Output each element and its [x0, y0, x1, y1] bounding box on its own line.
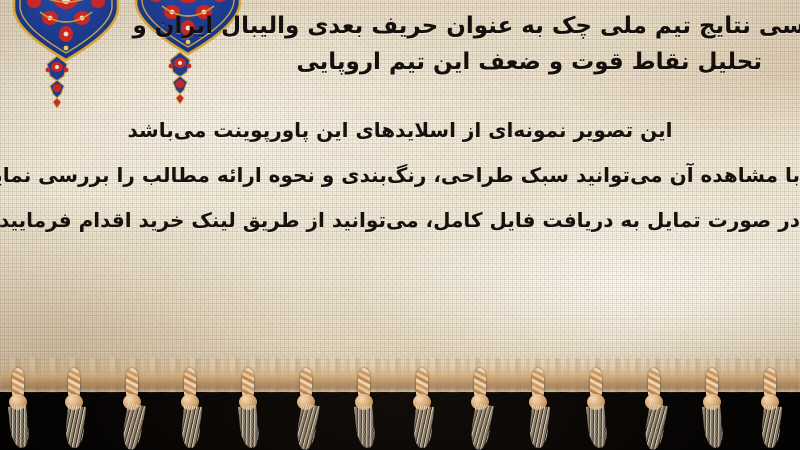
tassel-tail: [412, 405, 434, 449]
fringe-tassel: [118, 366, 146, 450]
fringe-tassel: [756, 366, 784, 450]
fringe-tassel: [234, 366, 262, 450]
title-line-2: تحلیل نقاط قوت و ضعف این تیم اروپایی: [0, 44, 762, 80]
tassel-tail: [586, 405, 608, 448]
title-line-1: رسی نتایج تیم ملی چک به عنوان حریف بعدی …: [0, 8, 800, 44]
fringe-tassel: [524, 366, 552, 450]
tassel-tail: [8, 405, 30, 448]
slide-body: این تصویر نمونه‌ای از اسلایدهای این پاور…: [0, 108, 800, 243]
fringe-tassel: [698, 366, 726, 450]
body-line-1: این تصویر نمونه‌ای از اسلایدهای این پاور…: [0, 108, 800, 153]
tassel-tail: [294, 403, 320, 450]
tassel-tail: [180, 405, 202, 449]
tassel-tail: [238, 405, 260, 448]
slide-canvas: رسی نتایج تیم ملی چک به عنوان حریف بعدی …: [0, 0, 800, 450]
fringe-tassel: [466, 366, 494, 450]
fringe-tassel: [292, 366, 320, 450]
fringe-tassel: [4, 366, 32, 450]
carpet-fringe: [0, 366, 800, 450]
fringe-tassel: [640, 366, 668, 450]
fringe-tassel: [60, 366, 88, 450]
body-line-3: در صورت تمایل به دریافت فایل کامل، می‌تو…: [0, 198, 800, 243]
fringe-tassel: [408, 366, 436, 450]
fringe-tassel: [350, 366, 378, 450]
tassel-tail: [64, 405, 86, 449]
slide-title: رسی نتایج تیم ملی چک به عنوان حریف بعدی …: [0, 8, 800, 80]
fringe-tassel: [176, 366, 204, 450]
tassel-tail: [468, 403, 494, 450]
tassel-tail: [354, 405, 376, 448]
tassel-tail: [760, 405, 782, 449]
fringe-tassel: [582, 366, 610, 450]
tassel-tail: [702, 405, 724, 448]
body-line-2: با مشاهده آن می‌توانید سبک طراحی، رنگ‌بن…: [0, 153, 800, 198]
tassel-tail: [642, 403, 668, 450]
tassel-tail: [120, 403, 146, 450]
tassel-tail: [528, 405, 550, 449]
